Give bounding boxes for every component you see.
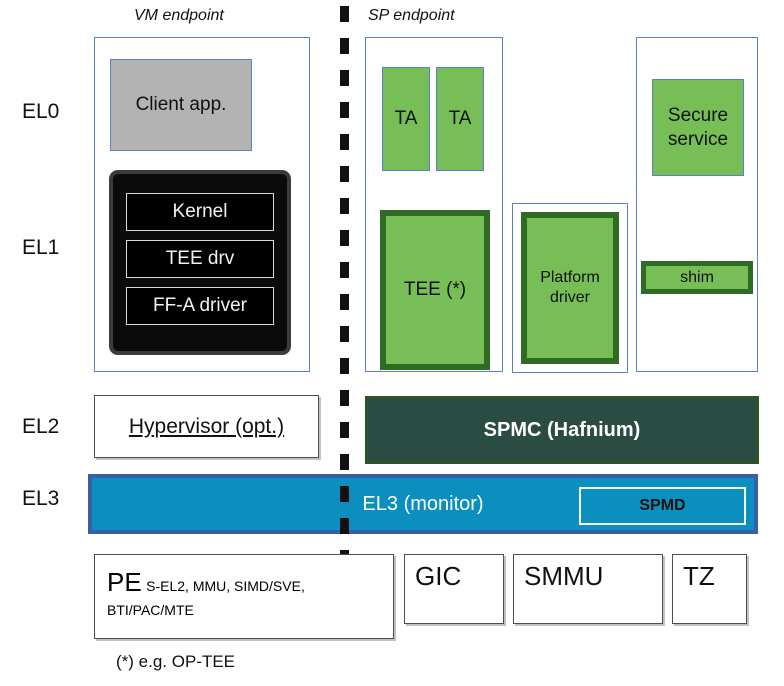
kernel-box[interactable]: Kernel	[126, 193, 274, 231]
hypervisor-box[interactable]: Hypervisor (opt.)	[94, 395, 319, 458]
el-label-el1: EL1	[22, 236, 59, 260]
caption-sp-endpoint: SP endpoint	[368, 7, 455, 25]
pe-features-line1: S-EL2, MMU, SIMD/SVE,	[146, 578, 305, 594]
platform-driver-box[interactable]: Platform driver	[521, 212, 619, 364]
smmu-box[interactable]: SMMU	[513, 554, 663, 624]
pe-name: PE	[107, 567, 142, 597]
secure-service-label-line1: Secure	[668, 104, 728, 128]
trusted-app-box-2[interactable]: TA	[436, 67, 484, 171]
spmc-label: SPMC (Hafnium)	[484, 419, 641, 442]
platform-driver-label-line2: driver	[550, 288, 590, 308]
gic-label: GIC	[415, 561, 461, 591]
client-app-box[interactable]: Client app.	[110, 59, 252, 151]
el-label-el2: EL2	[22, 415, 59, 439]
pe-label: PE S-EL2, MMU, SIMD/SVE, BTI/PAC/MTE	[107, 565, 381, 622]
secure-service-box[interactable]: Secure service	[652, 79, 744, 176]
tee-box[interactable]: TEE (*)	[380, 210, 490, 370]
hypervisor-label: Hypervisor (opt.)	[129, 415, 284, 439]
trusted-app-box-1[interactable]: TA	[382, 67, 430, 171]
el-label-el3: EL3	[22, 487, 59, 511]
spmc-box[interactable]: SPMC (Hafnium)	[365, 396, 759, 464]
tz-label: TZ	[683, 561, 715, 591]
pe-features-line2: BTI/PAC/MTE	[107, 602, 194, 618]
platform-driver-label-line1: Platform	[540, 268, 600, 288]
tz-box[interactable]: TZ	[672, 554, 747, 624]
smmu-label: SMMU	[524, 561, 603, 591]
el3-monitor-bar[interactable]: EL3 (monitor) SPMD	[88, 474, 758, 534]
pe-box[interactable]: PE S-EL2, MMU, SIMD/SVE, BTI/PAC/MTE	[94, 554, 394, 639]
caption-vm-endpoint: VM endpoint	[134, 7, 224, 25]
ffa-driver-box[interactable]: FF-A driver	[126, 287, 274, 325]
kernel-stack-container: Kernel TEE drv FF-A driver	[109, 170, 291, 355]
footnote: (*) e.g. OP-TEE	[116, 652, 235, 672]
spmd-box[interactable]: SPMD	[579, 487, 746, 525]
tee-drv-box[interactable]: TEE drv	[126, 240, 274, 278]
gic-box[interactable]: GIC	[404, 554, 504, 624]
shim-box[interactable]: shim	[641, 261, 753, 294]
el-label-el0: EL0	[22, 100, 59, 124]
world-divider-dashed-line	[340, 6, 349, 556]
secure-service-label-line2: service	[668, 128, 728, 152]
